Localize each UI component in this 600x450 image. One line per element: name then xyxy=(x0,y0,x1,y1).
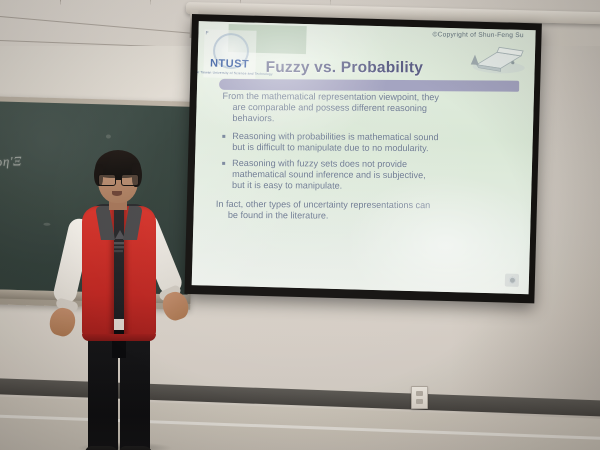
slide-line: but it is easy to manipulate. xyxy=(232,180,520,193)
slide-copyright-text: ©Copyright of Shun-Feng Su xyxy=(432,31,523,39)
logo-corner-glyph: F xyxy=(205,30,208,36)
wall-power-outlet-icon xyxy=(411,386,428,409)
slide-line: From the mathematical representation vie… xyxy=(223,91,439,102)
badge-dot-icon xyxy=(508,277,515,284)
presenter-red-vest xyxy=(82,206,156,341)
projection-screen-frame: F NTUST National Taiwan University of Sc… xyxy=(184,14,541,303)
slide-line: be found in the literature. xyxy=(216,210,520,223)
slide-paragraph: In fact, other types of uncertainty repr… xyxy=(213,198,520,222)
ntust-logo: F NTUST National Taiwan University of Sc… xyxy=(203,29,256,78)
glasses-lens xyxy=(98,174,116,186)
slide-line: behaviors. xyxy=(222,113,520,126)
slide-line: In fact, other types of uncertainty repr… xyxy=(216,198,430,209)
lecture-photo-scene: ωη'Ξ F NTUST National Taiwan University … xyxy=(0,0,600,450)
presenter-trousers xyxy=(88,330,150,450)
slide-bullet: Reasoning with fuzzy sets does not provi… xyxy=(213,158,520,193)
slide-line: Reasoning with probabilities is mathemat… xyxy=(232,131,438,142)
slide-line: Reasoning with fuzzy sets does not provi… xyxy=(232,158,407,169)
slide-title: Fuzzy vs. Probability xyxy=(266,59,424,77)
presenter-speaker xyxy=(55,150,205,450)
glasses-icon xyxy=(97,174,139,184)
presentation-slide: F NTUST National Taiwan University of Sc… xyxy=(192,21,536,294)
logo-mark-text: NTUST xyxy=(210,58,249,71)
slide-line: but is difficult to manipulate due to no… xyxy=(232,142,520,155)
open-book-icon xyxy=(468,43,527,77)
glasses-lens xyxy=(121,174,139,186)
slide-paragraph: From the mathematical representation vie… xyxy=(213,91,520,126)
square-bullet-icon xyxy=(222,135,225,138)
logo-subtitle-text: National Taiwan University of Science an… xyxy=(192,70,273,76)
chalk-dust xyxy=(106,134,111,138)
slide-title-underline-bar xyxy=(219,79,519,92)
chalk-dust xyxy=(43,223,50,226)
slide-navigation-badge[interactable] xyxy=(505,274,519,287)
slide-body: From the mathematical representation vie… xyxy=(213,91,521,223)
square-bullet-icon xyxy=(222,162,225,165)
projection-screen-surface: F NTUST National Taiwan University of Sc… xyxy=(192,21,536,294)
shoe xyxy=(85,446,119,450)
chalkboard-writing: ωη'Ξ xyxy=(0,153,22,170)
vest-hem xyxy=(82,334,156,341)
slide-bullet: Reasoning with probabilities is mathemat… xyxy=(213,130,520,154)
mouth xyxy=(112,191,122,196)
shoe xyxy=(119,446,153,450)
